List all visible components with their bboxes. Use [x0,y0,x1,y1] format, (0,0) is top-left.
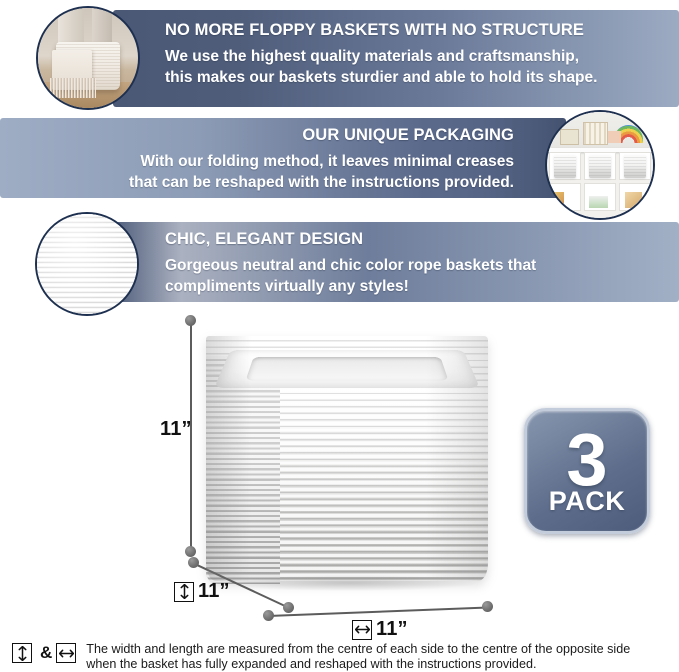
feature-banner-chic-elegant-design: CHIC, ELEGANT DESIGN Gorgeous neutral an… [113,222,679,302]
width-dimension-dot-left [263,610,274,621]
height-dimension-dot-bottom [185,546,196,557]
feature-headline: CHIC, ELEGANT DESIGN [165,228,665,250]
feature-body-line: Gorgeous neutral and chic color rope bas… [165,255,665,276]
feature-body-line: We use the highest quality materials and… [165,46,665,67]
height-dimension-dot-top [185,315,196,326]
measurement-footnote: & The width and length are measured from… [12,642,672,672]
depth-dimension-label: 11” [174,580,230,603]
product-image-rope-basket [196,312,496,597]
vertical-arrow-icon [174,582,194,602]
footnote-separator: & [40,643,52,663]
feature-headline: OUR UNIQUE PACKAGING [14,124,514,146]
feature-body-line: With our folding method, it leaves minim… [14,151,514,172]
feature-body-line: that can be reshaped with the instructio… [14,172,514,193]
width-dimension-dot-right [482,601,493,612]
feature-banner-floppy-baskets: NO MORE FLOPPY BASKETS WITH NO STRUCTURE… [113,10,679,107]
feature-body-line: compliments virtually any styles! [165,276,665,297]
footnote-line: The width and length are measured from t… [86,642,630,657]
feature-photo-unique-packaging [545,110,655,220]
depth-dimension-dot-far [283,602,294,613]
feature-body: With our folding method, it leaves minim… [14,151,514,193]
footnote-text: The width and length are measured from t… [86,642,630,672]
feature-photo-rope-texture [35,212,139,316]
feature-headline: NO MORE FLOPPY BASKETS WITH NO STRUCTURE [165,19,665,41]
photo-image [547,112,653,218]
feature-body: We use the highest quality materials and… [165,46,665,88]
footnote-icons: & [12,642,80,663]
footnote-line: when the basket has fully expanded and r… [86,657,630,672]
height-dimension-label: 11” [160,418,192,441]
feature-banner-unique-packaging: OUR UNIQUE PACKAGING With our folding me… [0,118,566,198]
width-dimension-line [268,607,488,617]
depth-dimension-dot-near [188,557,199,568]
width-dimension-value: 11” [376,618,408,640]
photo-image [38,8,138,108]
feature-photo-floppy-baskets [36,6,140,110]
feature-body-line: this makes our baskets sturdier and able… [165,67,665,88]
feature-body: Gorgeous neutral and chic color rope bas… [165,255,665,297]
vertical-arrow-icon [12,643,32,663]
horizontal-arrow-icon [352,620,372,640]
photo-image [37,214,137,314]
pack-count-number: 3 [566,429,607,491]
pack-count-badge: 3 PACK [524,408,650,534]
basket-body [206,336,488,581]
horizontal-arrow-icon [56,643,76,663]
width-dimension-label: 11” [352,618,408,641]
pack-count-word: PACK [549,487,626,515]
depth-dimension-value: 11” [198,580,230,602]
